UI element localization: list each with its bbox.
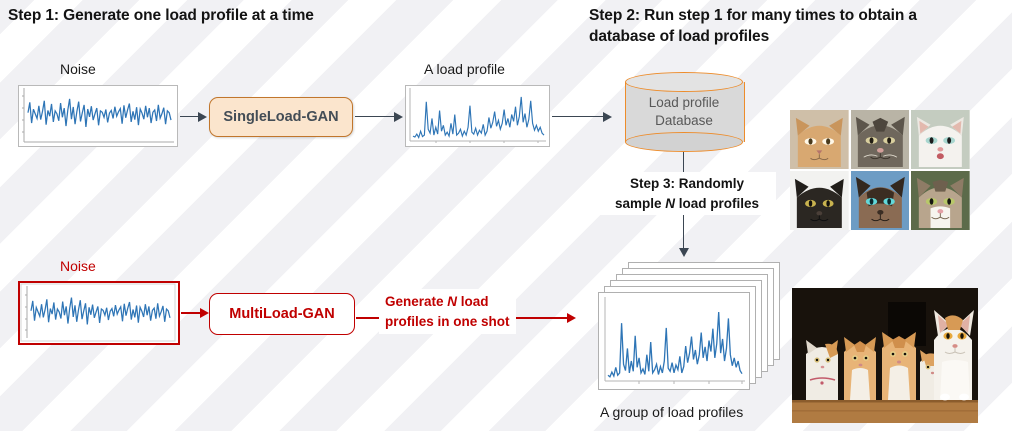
generate-n-label: Generate N load profiles in one shot [379,289,516,334]
step2-heading-line2: database of load profiles [589,27,1009,48]
step3-line2-post: load profiles [675,196,759,211]
arrow-noise-to-multiload [181,308,209,318]
cat-face-2 [851,110,910,169]
arrow-profile-to-database [552,112,614,122]
noise-chart-top [18,85,178,147]
arrow-singleload-to-profile [355,112,405,122]
load-profile-chart-svg [406,86,549,146]
generate-line1-italic-n: N [447,294,457,309]
cat-face-5 [851,171,910,230]
noise-label-bottom: Noise [60,258,96,274]
database-label-line2: Database [655,112,713,130]
multiload-gan-box[interactable]: MultiLoad-GAN [209,293,355,335]
cat-face-4 [790,171,849,230]
database-label-line1: Load profile [649,94,720,112]
step3-line2: sample N load profiles [602,194,772,214]
noise-label-top: Noise [60,61,96,77]
generate-n-line1: Generate N load [385,292,510,312]
database-label: Load profile Database [625,72,743,152]
kitten-1 [806,340,838,400]
step3-line2-pre: sample [615,196,665,211]
generate-n-line2: profiles in one shot [385,312,510,332]
adult-cat [934,310,974,400]
noise-chart-bottom-svg [20,283,178,343]
cat-family-photo-svg [792,288,978,423]
load-profile-chart [405,85,550,147]
arrow-noise-to-singleload [180,112,207,122]
kitten-2 [844,337,876,400]
noise-chart-top-svg [19,86,177,146]
group-of-load-profiles-label: A group of load profiles [600,404,743,420]
load-profile-stack[interactable] [598,262,788,402]
kitten-3 [882,332,916,400]
generate-line1-pre: Generate [385,294,447,309]
diagram-canvas: Step 1: Generate one load profile at a t… [0,0,1012,431]
group-profile-chart-svg [599,293,749,389]
cat-family-photo [792,288,978,423]
cat-face-1 [790,110,849,169]
step2-heading-line1: Step 2: Run step 1 for many times to obt… [589,6,1009,27]
cat-grid-photo [790,110,970,230]
cat-face-3 [911,110,970,169]
cat-face-6 [911,171,970,230]
singleload-gan-box[interactable]: SingleLoad-GAN [209,97,353,137]
step3-line1: Step 3: Randomly [602,174,772,194]
step1-heading: Step 1: Generate one load profile at a t… [8,6,568,27]
step3-text: Step 3: Randomly sample N load profiles [598,172,776,215]
step3-line2-italic-n: N [665,196,675,211]
noise-chart-bottom [18,281,180,345]
load-profile-database[interactable]: Load profile Database [625,72,743,152]
stack-card-1-front [598,292,750,390]
step2-heading: Step 2: Run step 1 for many times to obt… [589,6,1009,48]
generate-line1-post: load [457,294,489,309]
load-profile-label: A load profile [424,61,505,77]
arrow-step3-down-to-group [679,215,689,257]
